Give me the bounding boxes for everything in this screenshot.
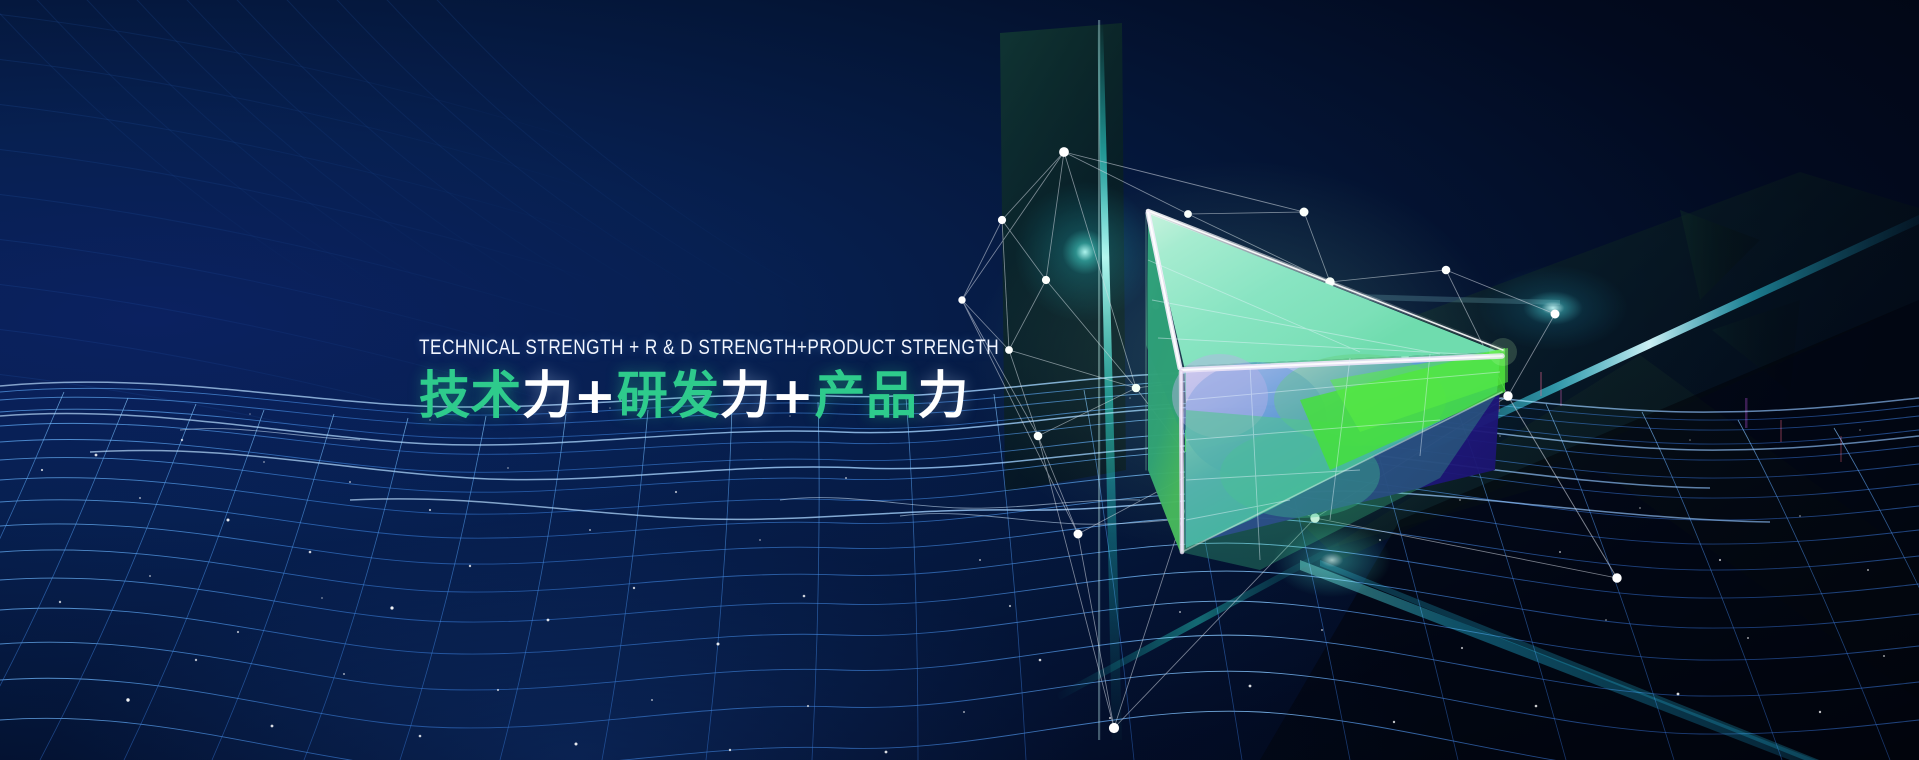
lens-flare-bottom: [1237, 500, 1427, 620]
headline-cn-segment-3: 研发: [617, 367, 720, 426]
headline-cn-segment-1: 力: [522, 367, 574, 426]
headline-cn-segment-6: 产品: [815, 367, 918, 426]
headline-cn-segment-4: 力: [720, 367, 772, 426]
lens-flare-right: [1438, 243, 1668, 373]
headline-cn-segment-2: +: [574, 367, 617, 426]
headline-cn-segment-7: 力: [918, 367, 970, 426]
headline-english: TECHNICAL STRENGTH + R & D STRENGTH+PROD…: [419, 337, 1027, 359]
headline-cn-segment-5: +: [771, 367, 814, 426]
headline-block: TECHNICAL STRENGTH + R & D STRENGTH+PROD…: [419, 337, 1179, 423]
headline-chinese: 技术力+研发力+产品力: [419, 370, 1179, 424]
lens-flare-left: [1005, 172, 1165, 332]
headline-cn-segment-0: 技术: [419, 367, 522, 426]
banner-stage: TECHNICAL STRENGTH + R & D STRENGTH+PROD…: [0, 0, 1919, 760]
